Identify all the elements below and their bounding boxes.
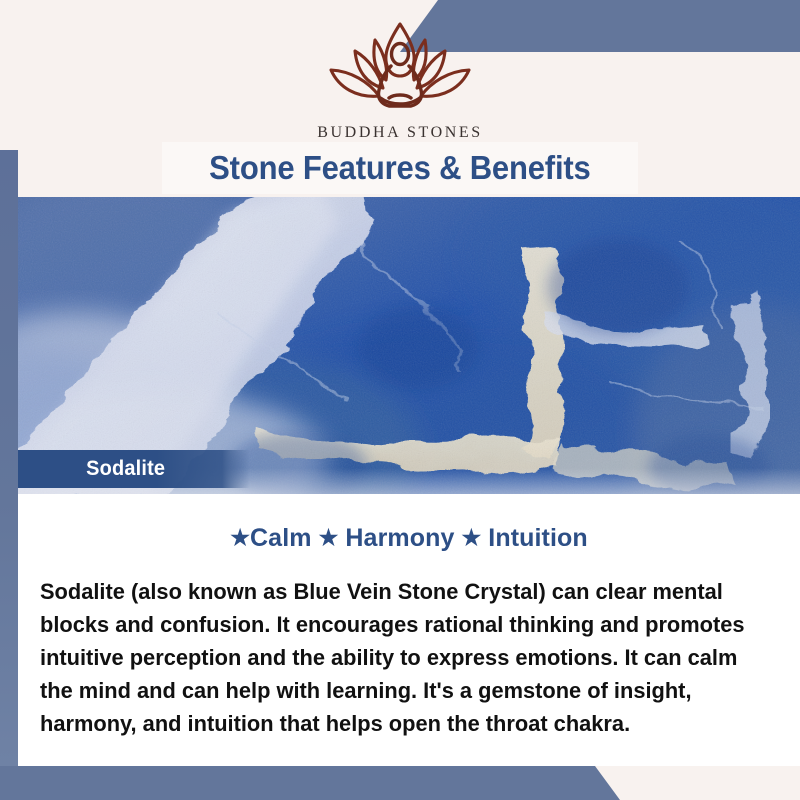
brand-logo: BUDDHA STONES	[0, 18, 800, 142]
left-edge-decoration	[0, 150, 18, 790]
star-icon-1: ★	[230, 525, 250, 550]
benefit-item-intuition: Intuition	[488, 524, 587, 552]
benefit-item-calm: Calm	[250, 524, 312, 552]
page-title: Stone Features & Benefits	[209, 149, 590, 187]
stone-name: Sodalite	[86, 457, 165, 481]
brand-name: BUDDHA STONES	[0, 124, 800, 142]
infographic-card: BUDDHA STONES Stone Features & Benefits	[0, 0, 800, 800]
benefit-item-harmony: Harmony	[345, 524, 454, 552]
star-icon-3: ★	[461, 525, 481, 550]
star-icon-2: ★	[319, 525, 339, 550]
stone-description: Sodalite (also known as Blue Vein Stone …	[40, 575, 758, 740]
benefits-list: ★Calm★Harmony★Intuition	[18, 524, 800, 553]
page-title-band: Stone Features & Benefits	[162, 142, 638, 194]
stone-name-band: Sodalite	[18, 450, 250, 488]
bottom-left-corner-decoration	[0, 766, 620, 800]
lotus-meditation-figure-icon	[315, 18, 485, 122]
header: BUDDHA STONES Stone Features & Benefits	[0, 0, 800, 200]
content-area: ★Calm★Harmony★Intuition Sodalite (also k…	[18, 494, 800, 766]
